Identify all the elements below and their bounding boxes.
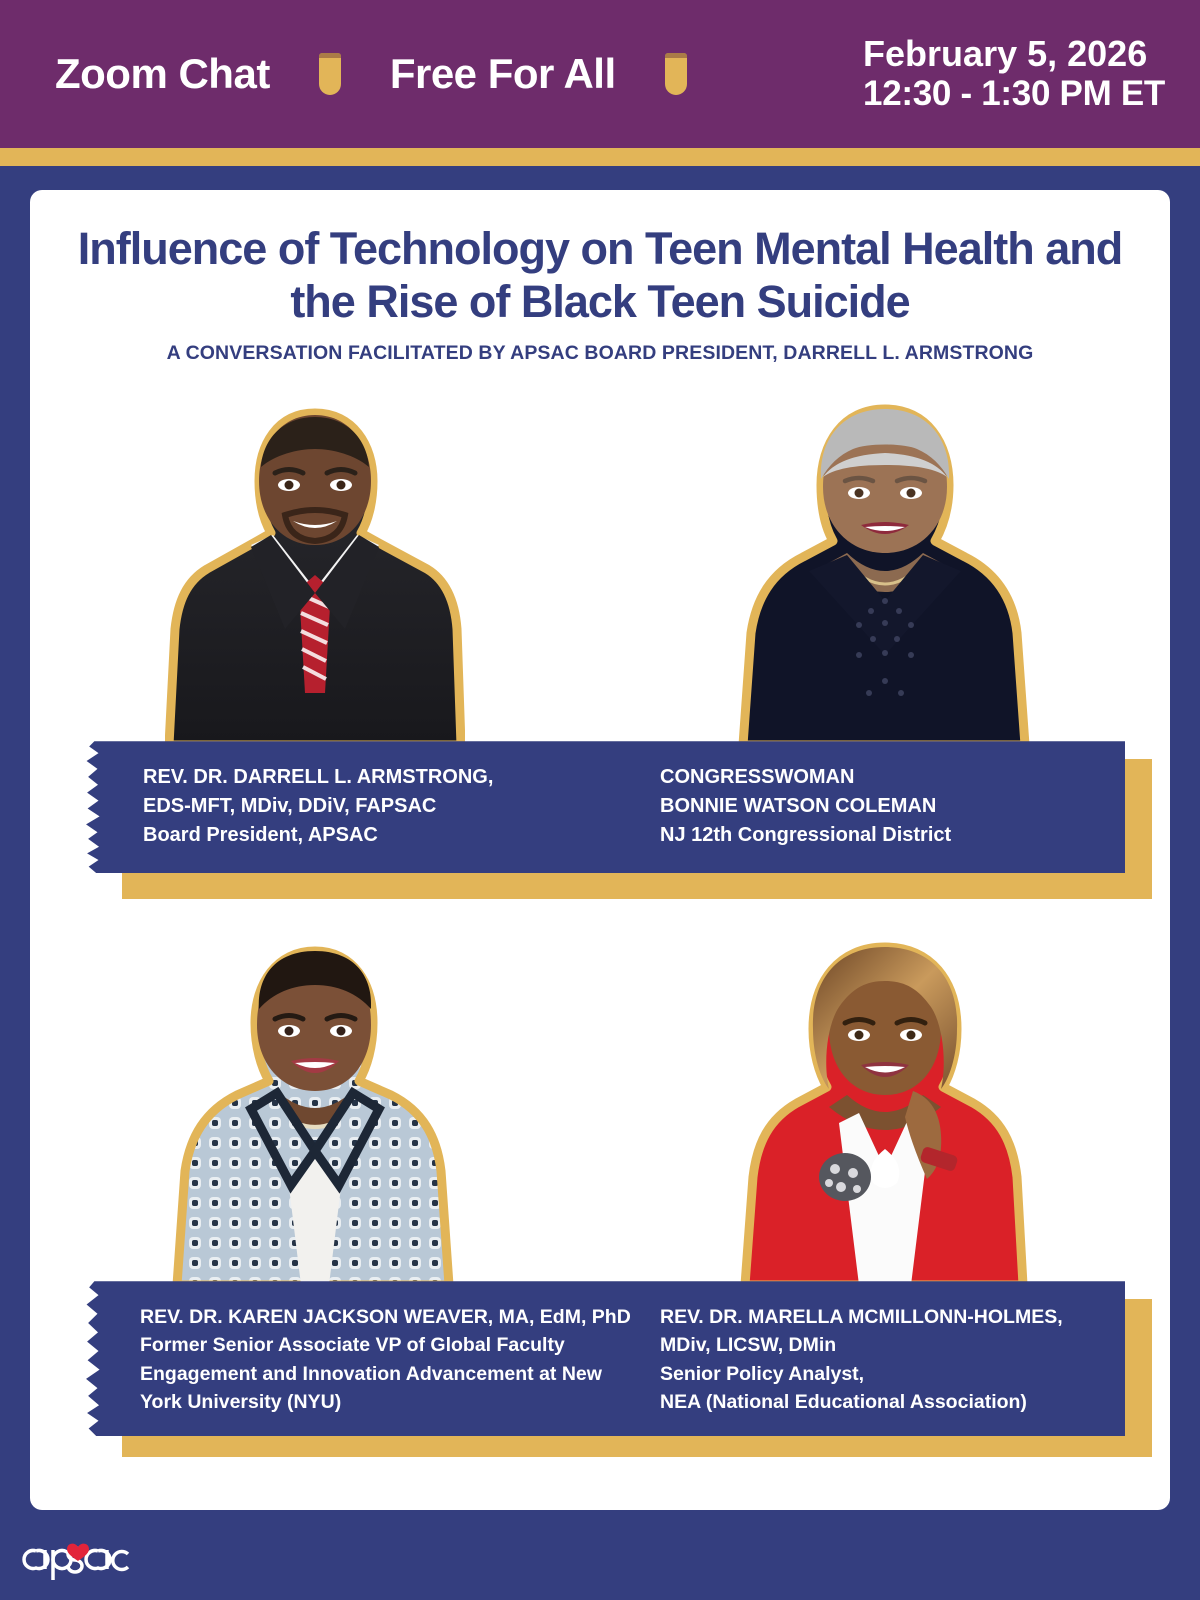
portrait-darrell-armstrong: [115, 373, 515, 745]
shield-icon: [665, 53, 687, 95]
speaker-info-marella-mcmillonn-holmes: REV. DR. MARELLA MCMILLONN-HOLMES, MDiv,…: [605, 1303, 1125, 1416]
speaker-role-line-2: NEA (National Educational Association): [660, 1388, 1125, 1416]
banner-row-2: REV. DR. KAREN JACKSON WEAVER, MA, EdM, …: [85, 1281, 1125, 1436]
header-separator-1: [270, 53, 390, 95]
speaker-name: BONNIE WATSON COLEMAN: [660, 792, 1125, 821]
header-datetime: February 5, 2026 12:30 - 1:30 PM ET: [863, 35, 1165, 113]
speaker-name: REV. DR. DARRELL L. ARMSTRONG,: [143, 763, 605, 792]
header-content: Zoom Chat Free For All February 5, 2026 …: [35, 35, 1165, 113]
page-title: Influence of Technology on Teen Mental H…: [60, 222, 1140, 328]
event-card: Influence of Technology on Teen Mental H…: [30, 190, 1170, 1510]
speaker-info-bonnie-watson-coleman: CONGRESSWOMAN BONNIE WATSON COLEMAN NJ 1…: [605, 763, 1125, 853]
portrait-karen-jackson-weaver: [115, 913, 515, 1285]
speaker-name: REV. DR. MARELLA MCMILLONN-HOLMES,: [660, 1303, 1125, 1331]
portrait-karen-jackson-weaver-image: [165, 933, 465, 1285]
portrait-darrell-armstrong-image: [165, 393, 465, 745]
speaker-title: CONGRESSWOMAN: [660, 763, 1125, 792]
speaker-photo-row-2: [30, 913, 1170, 1285]
header-zoom-chat-label: Zoom Chat: [55, 50, 270, 98]
header-time-line: 12:30 - 1:30 PM ET: [863, 74, 1165, 113]
speaker-photo-row-1: [30, 373, 1170, 745]
header-separator-2: [616, 53, 736, 95]
banner-row-1: REV. DR. DARRELL L. ARMSTRONG, EDS-MFT, …: [85, 741, 1125, 873]
portrait-marella-mcmillonn-holmes-image: [735, 933, 1035, 1285]
speaker-role-line-3: York University (NYU): [140, 1388, 605, 1416]
page-subtitle: A CONVERSATION FACILITATED BY APSAC BOAR…: [30, 342, 1170, 365]
speaker-credentials: MDiv, LICSW, DMin: [660, 1331, 1125, 1359]
speaker-info-darrell-armstrong: REV. DR. DARRELL L. ARMSTRONG, EDS-MFT, …: [85, 763, 605, 853]
speaker-banner-row-2: REV. DR. KAREN JACKSON WEAVER, MA, EdM, …: [30, 1281, 1170, 1436]
apsac-heart-logo: [14, 1528, 134, 1582]
speaker-role: Board President, APSAC: [143, 821, 605, 850]
speaker-role: NJ 12th Congressional District: [660, 821, 1125, 850]
page-header: Zoom Chat Free For All February 5, 2026 …: [0, 0, 1200, 148]
header-gold-divider: [0, 148, 1200, 166]
page-footer: [0, 1510, 1200, 1600]
shield-icon: [319, 53, 341, 95]
speaker-credentials: EDS-MFT, MDiv, DDiV, FAPSAC: [143, 792, 605, 821]
speaker-role-line-1: Senior Policy Analyst,: [660, 1360, 1125, 1388]
portrait-bonnie-watson-coleman-image: [735, 393, 1035, 745]
portrait-bonnie-watson-coleman: [685, 373, 1085, 745]
portrait-marella-mcmillonn-holmes: [685, 913, 1085, 1285]
speaker-info-karen-jackson-weaver: REV. DR. KAREN JACKSON WEAVER, MA, EdM, …: [85, 1303, 605, 1416]
speaker-name: REV. DR. KAREN JACKSON WEAVER, MA, EdM, …: [140, 1303, 605, 1331]
header-date-line: February 5, 2026: [863, 33, 1147, 74]
header-free-for-all-label: Free For All: [390, 50, 616, 98]
speaker-role-line-1: Former Senior Associate VP of Global Fac…: [140, 1331, 605, 1359]
speaker-banner-row-1: REV. DR. DARRELL L. ARMSTRONG, EDS-MFT, …: [30, 741, 1170, 873]
speaker-role-line-2: Engagement and Innovation Advancement at…: [140, 1360, 605, 1388]
